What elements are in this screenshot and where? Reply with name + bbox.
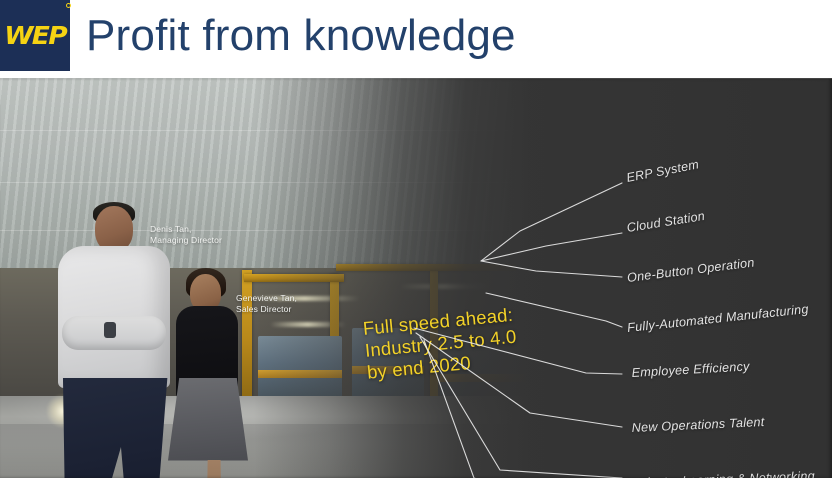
ceiling-seam [0, 130, 530, 131]
feature-label-employee-efficiency[interactable]: Employee Efficiency [631, 359, 750, 380]
feature-label-cloud-station[interactable]: Cloud Station [626, 209, 706, 235]
steel-beam [336, 264, 516, 271]
machine-band [258, 370, 342, 378]
feature-label-new-operations-talent[interactable]: New Operations Talent [631, 415, 764, 435]
feature-label-erp-system[interactable]: ERP System [625, 157, 700, 185]
hall-light [400, 284, 490, 289]
denis-legs [56, 378, 172, 478]
caption-denis-tan: Denis Tan, Managing Director [150, 224, 222, 246]
main-visual-panel: Denis Tan, Managing Director Genevieve T… [0, 78, 832, 478]
feature-label-one-button-operation[interactable]: One-Button Operation [626, 255, 755, 285]
feature-label-fully-automated-manufacturing[interactable]: Fully-Automated Manufacturing [627, 302, 810, 335]
page-title: Profit from knowledge [86, 6, 516, 66]
factory-machine [258, 336, 342, 398]
factory-photo [0, 78, 530, 478]
wep-logo: WEP [0, 0, 70, 71]
feature-label-industry-learning-networking[interactable]: Industry Learning & Networking [631, 469, 815, 478]
slide-header: WEP Profit from knowledge [0, 0, 832, 72]
wep-logo-wordmark: WEP [4, 23, 66, 48]
slide-root: WEP Profit from knowledge [0, 0, 832, 478]
ceiling [0, 78, 530, 274]
denis-watch [104, 322, 116, 338]
wep-logo-dot-icon [66, 3, 71, 8]
caption-genevieve-tan: Genevieve Tan, Sales Director [236, 293, 297, 315]
ceiling-seam [0, 182, 530, 183]
genevieve-skirt [168, 378, 248, 464]
steel-beam [244, 274, 344, 282]
ceiling-seam [0, 230, 530, 231]
steel-beam [242, 270, 252, 398]
